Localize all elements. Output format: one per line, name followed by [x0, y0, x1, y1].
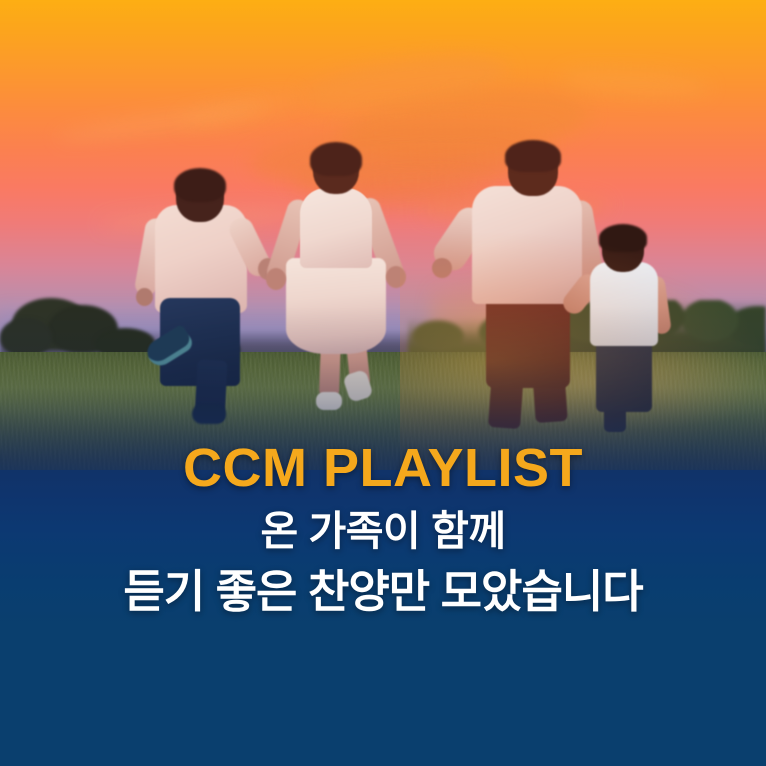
- sunset-family-photo: [0, 0, 766, 470]
- boy-left-hand: [136, 288, 153, 306]
- ccm-playlist-poster: CCM PLAYLIST 온 가족이 함께 듣기 좋은 찬양만 모았습니다: [0, 0, 766, 766]
- mother-right-hand: [386, 266, 406, 288]
- mother-left-hand: [266, 268, 286, 290]
- younger-boy-trousers: [596, 336, 652, 412]
- mother-dress-skirt: [286, 258, 386, 354]
- younger-boy-tshirt: [590, 262, 658, 346]
- tree-icon: [0, 318, 52, 356]
- poster-title: CCM PLAYLIST: [0, 440, 766, 497]
- poster-text-block: CCM PLAYLIST 온 가족이 함께 듣기 좋은 찬양만 모았습니다: [0, 440, 766, 618]
- boy-hair: [174, 168, 226, 202]
- father-trousers: [486, 292, 570, 388]
- poster-subtitle-line-1: 온 가족이 함께: [0, 507, 766, 555]
- younger-boy-hair: [599, 224, 647, 252]
- navy-panel: [0, 636, 766, 766]
- poster-subtitle-line-2: 듣기 좋은 찬양만 모았습니다: [0, 565, 766, 618]
- mother-dress-bodice: [300, 188, 372, 268]
- father-left-hand: [432, 258, 452, 278]
- mother-hair: [310, 142, 362, 176]
- father-shirt: [472, 186, 582, 304]
- mother-shoe-left: [316, 392, 342, 410]
- boy-shoe-back: [192, 404, 226, 424]
- father-hair: [505, 140, 561, 172]
